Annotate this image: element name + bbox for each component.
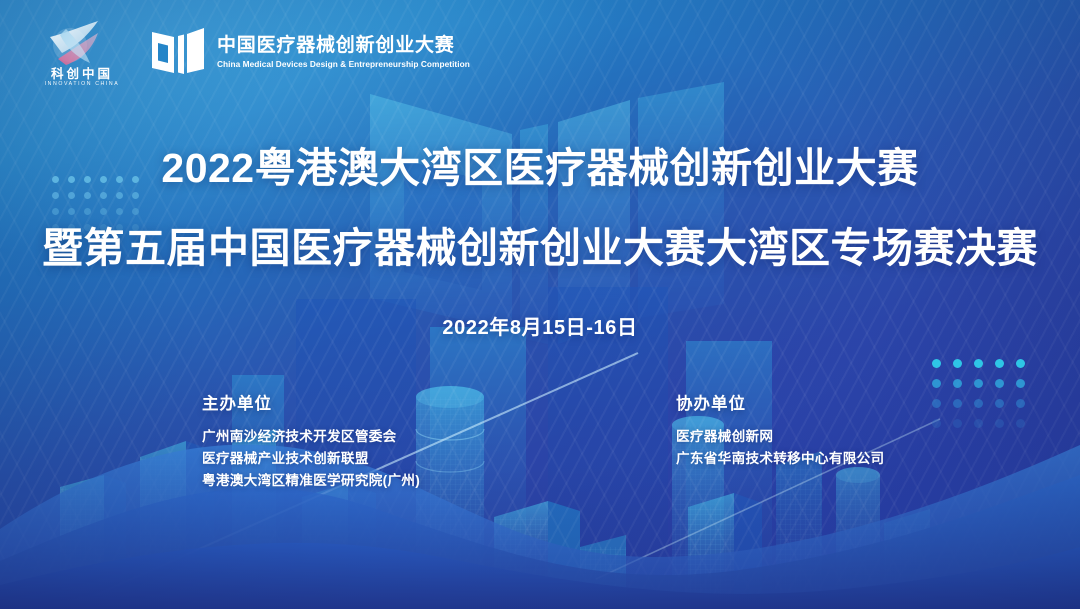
event-poster: 科创中国 INNOVATION CHINA 中国医疗器械创新创业大赛 China… bbox=[0, 0, 1080, 609]
poster-content: 2022粤港澳大湾区医疗器械创新创业大赛 暨第五届中国医疗器械创新创业大赛大湾区… bbox=[0, 0, 1080, 609]
cohost-organizer-heading: 协办单位 bbox=[676, 390, 884, 414]
page-title-line2: 暨第五届中国医疗器械创新创业大赛大湾区专场赛决赛 bbox=[0, 214, 1080, 274]
cohost-organizer-block: 协办单位 医疗器械创新网 广东省华南技术转移中心有限公司 bbox=[676, 390, 884, 470]
host-organizer-line: 广州南沙经济技术开发区管委会 bbox=[202, 426, 420, 448]
host-organizer-heading: 主办单位 bbox=[202, 390, 420, 414]
host-organizer-block: 主办单位 广州南沙经济技术开发区管委会 医疗器械产业技术创新联盟 粤港澳大湾区精… bbox=[202, 390, 420, 492]
cohost-organizer-line: 医疗器械创新网 bbox=[676, 426, 884, 448]
cohost-organizer-line: 广东省华南技术转移中心有限公司 bbox=[676, 448, 884, 470]
host-organizer-line: 医疗器械产业技术创新联盟 bbox=[202, 448, 420, 470]
page-title-line1: 2022粤港澳大湾区医疗器械创新创业大赛 bbox=[0, 134, 1080, 194]
host-organizer-line: 粤港澳大湾区精准医学研究院(广州) bbox=[202, 470, 420, 492]
event-date: 2022年8月15日-16日 bbox=[0, 311, 1080, 340]
